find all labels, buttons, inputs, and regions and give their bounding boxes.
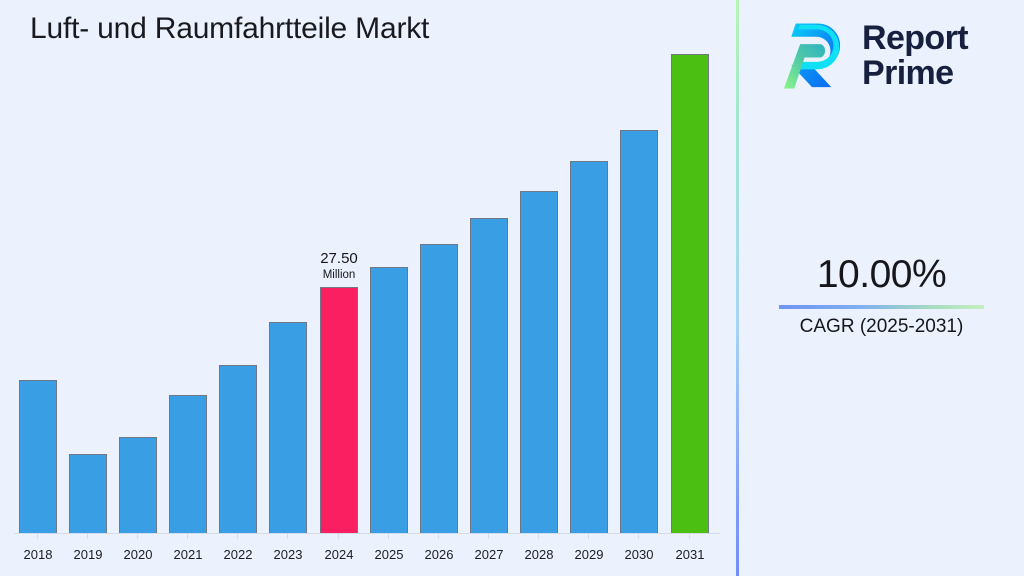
brand-logo[interactable]: Report Prime	[739, 8, 1024, 104]
x-tick-label-2031: 2031	[665, 547, 715, 562]
report-prime-r-logo-icon	[775, 19, 849, 93]
bar-2030[interactable]	[620, 130, 658, 533]
tick-2019	[87, 533, 88, 539]
bar-2018[interactable]	[19, 380, 57, 533]
bar-2026[interactable]	[420, 244, 458, 533]
bar-2029[interactable]	[570, 161, 608, 533]
cagr-caption: CAGR (2025-2031)	[739, 316, 1024, 338]
x-tick-label-2019: 2019	[63, 547, 113, 562]
tick-2024	[338, 533, 339, 539]
cagr-block: 10.00% CAGR (2025-2031)	[739, 253, 1024, 338]
bar-2023[interactable]	[269, 322, 307, 533]
x-tick-label-2022: 2022	[213, 547, 263, 562]
tick-2027	[488, 533, 489, 539]
brand-name: Report Prime	[862, 21, 968, 90]
x-tick-label-2026: 2026	[414, 547, 464, 562]
brand-name-line1: Report	[862, 21, 968, 56]
data-label-2024: 27.50 Million	[297, 251, 381, 281]
tick-2031	[689, 533, 690, 539]
bar-chart-plot-area: 2018 2019 2020 2021 2022	[0, 0, 736, 576]
cagr-value: 10.00%	[739, 253, 1024, 297]
tick-2025	[388, 533, 389, 539]
chart-panel: Luft- und Raumfahrtteile Markt 2018 2019…	[0, 0, 736, 576]
x-axis-line	[14, 533, 720, 534]
bar-2025[interactable]	[370, 267, 408, 533]
data-label-2024-value: 27.50	[320, 250, 358, 267]
tick-2021	[187, 533, 188, 539]
data-label-2024-unit: Million	[297, 269, 381, 281]
tick-2020	[137, 533, 138, 539]
x-tick-label-2027: 2027	[464, 547, 514, 562]
x-tick-label-2021: 2021	[163, 547, 213, 562]
x-tick-label-2020: 2020	[113, 547, 163, 562]
tick-2022	[237, 533, 238, 539]
tick-2028	[538, 533, 539, 539]
x-tick-label-2023: 2023	[263, 547, 313, 562]
x-tick-label-2025: 2025	[364, 547, 414, 562]
x-tick-label-2018: 2018	[13, 547, 63, 562]
bar-2027[interactable]	[470, 218, 508, 533]
cagr-divider	[779, 305, 984, 309]
tick-2030	[638, 533, 639, 539]
bar-2019[interactable]	[69, 454, 107, 533]
bar-2024[interactable]	[320, 287, 358, 533]
bar-2022[interactable]	[219, 365, 257, 533]
x-tick-label-2028: 2028	[514, 547, 564, 562]
bar-2031[interactable]	[671, 54, 709, 533]
tick-2026	[438, 533, 439, 539]
brand-name-line2: Prime	[862, 56, 968, 91]
x-tick-label-2029: 2029	[564, 547, 614, 562]
info-panel: Report Prime 10.00% CAGR (2025-2031)	[739, 0, 1024, 576]
x-tick-label-2030: 2030	[614, 547, 664, 562]
tick-2029	[588, 533, 589, 539]
bar-2021[interactable]	[169, 395, 207, 533]
x-tick-label-2024: 2024	[314, 547, 364, 562]
bar-2028[interactable]	[520, 191, 558, 533]
tick-2018	[37, 533, 38, 539]
tick-2023	[287, 533, 288, 539]
bar-2020[interactable]	[119, 437, 157, 533]
